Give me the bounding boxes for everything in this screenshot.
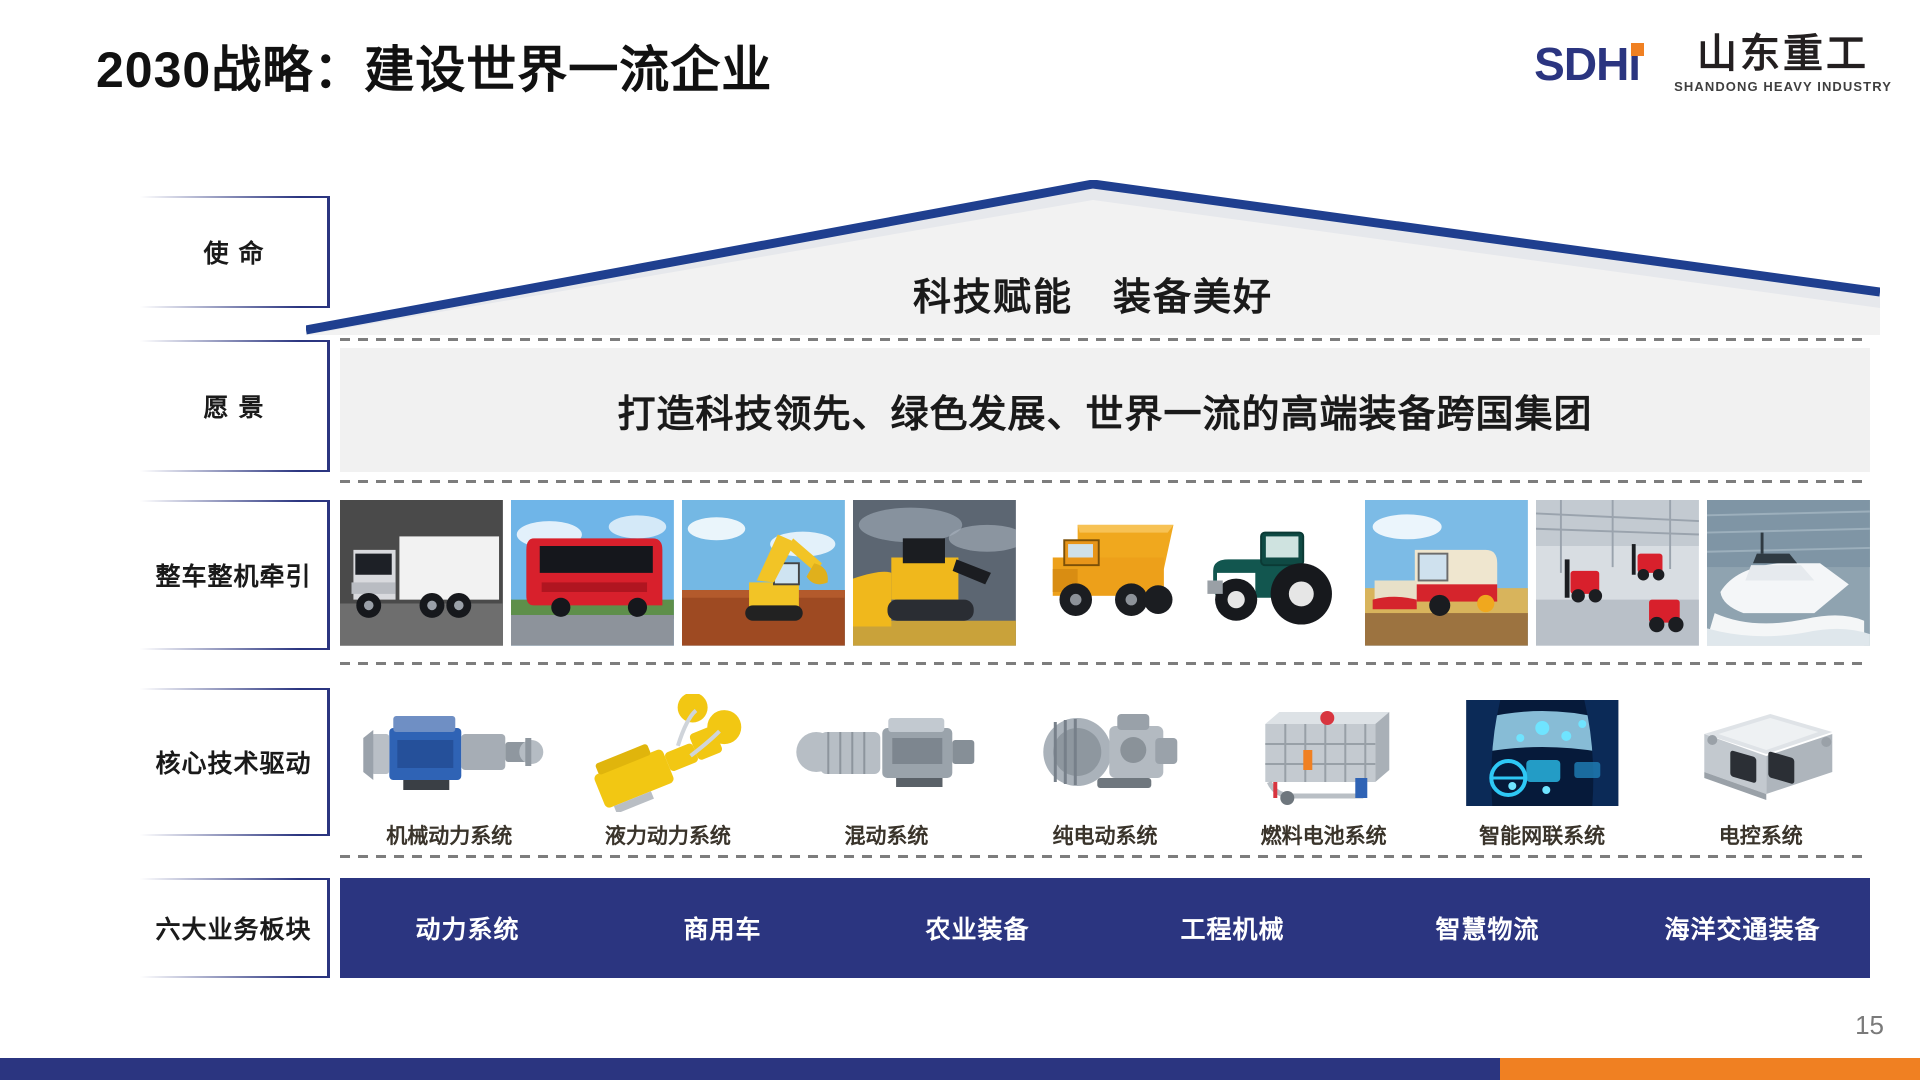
row-label-vision: 愿景: [140, 340, 330, 472]
business-segment-item: 商用车: [595, 910, 850, 946]
row-label-vehicles: 整车整机牵引: [140, 500, 330, 650]
vehicle-tile-heavy-truck: [340, 500, 503, 652]
footer-bar-orange: [1500, 1058, 1920, 1080]
vehicle-tile-combine-harvester: [1365, 500, 1528, 652]
tech-cell-battery-electric: 纯电动系统: [996, 672, 1215, 850]
hydraulic-powertrain-icon: [559, 694, 778, 812]
vehicle-tile-excavator: [682, 500, 845, 652]
electric-drive-art: [996, 694, 1215, 812]
tech-cell-hybrid: 混动系统: [777, 672, 996, 850]
logo-name-block: 山东重工 SHANDONG HEAVY INDUSTRY: [1674, 34, 1892, 94]
tech-label: 燃料电池系统: [1261, 820, 1387, 850]
hydraulic-powertrain-art: [559, 694, 778, 812]
business-segment-item: 农业装备: [850, 910, 1105, 946]
vehicle-tile-tractor: [1194, 500, 1357, 652]
tech-label: 纯电动系统: [1053, 820, 1158, 850]
vehicle-tile-coach-bus: [511, 500, 674, 652]
electric-drive-icon: [996, 694, 1215, 812]
logo-mark-sdhi: SDHi: [1534, 41, 1644, 87]
vision-band: 打造科技领先、绿色发展、世界一流的高端装备跨国集团: [340, 348, 1870, 472]
slide-header: 2030战略：建设世界一流企业 SDHi 山东重工 SHANDONG HEAVY…: [0, 0, 1920, 130]
tech-cell-mechanical-power: 机械动力系统: [340, 672, 559, 850]
yacht-icon: [1707, 500, 1870, 646]
divider-mission-vision: [340, 338, 1870, 341]
vehicle-image-strip: [340, 500, 1870, 652]
divider-technology-business: [340, 855, 1870, 858]
footer-bar-navy: [0, 1058, 1500, 1080]
excavator-icon: [682, 500, 845, 646]
combine-harvester-icon: [1365, 500, 1528, 646]
tech-label: 液力动力系统: [605, 820, 731, 850]
mission-text: 科技赋能 装备美好: [306, 180, 1880, 335]
brand-logo: SDHi 山东重工 SHANDONG HEAVY INDUSTRY: [1534, 34, 1892, 94]
divider-vehicles-technology: [340, 662, 1870, 665]
tech-label: 机械动力系统: [386, 820, 512, 850]
tech-cell-fuel-cell: 燃料电池系统: [1214, 672, 1433, 850]
tech-cell-hydraulic-power: 液力动力系统: [559, 672, 778, 850]
diesel-engine-art: [340, 694, 559, 812]
divider-vision-vehicles: [340, 480, 1870, 483]
ecu-controller-icon: [1651, 694, 1870, 812]
row-label-technology: 核心技术驱动: [140, 688, 330, 836]
core-technology-row: 机械动力系统 液力动力系统: [340, 672, 1870, 850]
tech-label: 混动系统: [844, 820, 928, 850]
smart-cockpit-art: [1433, 694, 1652, 812]
logo-orange-dot-icon: [1631, 43, 1644, 56]
ecu-controller-art: [1651, 694, 1870, 812]
business-segment-item: 智慧物流: [1360, 910, 1615, 946]
tractor-icon: [1194, 500, 1357, 646]
page-title: 2030战略：建设世界一流企业: [96, 30, 772, 102]
hybrid-powertrain-icon: [777, 694, 996, 812]
row-label-mission: 使命: [140, 196, 330, 308]
vehicle-tile-yacht: [1707, 500, 1870, 652]
page-number: 15: [1855, 1010, 1884, 1041]
tech-cell-electronic-control: 电控系统: [1651, 672, 1870, 850]
mining-dump-truck-icon: [1024, 500, 1187, 646]
vehicle-tile-forklift-warehouse: [1536, 500, 1699, 652]
forklift-warehouse-icon: [1536, 500, 1699, 646]
tech-cell-smart-connected: 智能网联系统: [1433, 672, 1652, 850]
vehicle-tile-mining-dump-truck: [1024, 500, 1187, 652]
footer-bar: [0, 1058, 1920, 1080]
logo-chinese-name: 山东重工: [1697, 34, 1869, 74]
smart-cockpit-icon: [1433, 694, 1652, 812]
tech-label: 电控系统: [1719, 820, 1803, 850]
fuel-cell-stack-art: [1214, 694, 1433, 812]
fuel-cell-stack-icon: [1214, 694, 1433, 812]
bulldozer-icon: [853, 500, 1016, 646]
logo-divider: [1658, 42, 1660, 86]
business-segment-item: 动力系统: [340, 910, 595, 946]
hybrid-powertrain-art: [777, 694, 996, 812]
logo-english-name: SHANDONG HEAVY INDUSTRY: [1674, 79, 1892, 94]
vehicle-tile-bulldozer: [853, 500, 1016, 652]
business-segment-bar: 动力系统 商用车 农业装备 工程机械 智慧物流 海洋交通装备: [340, 878, 1870, 978]
coach-bus-icon: [511, 500, 674, 646]
row-label-business: 六大业务板块: [140, 878, 330, 978]
diesel-engine-icon: [340, 694, 559, 812]
vision-text: 打造科技领先、绿色发展、世界一流的高端装备跨国集团: [617, 383, 1592, 438]
tech-label: 智能网联系统: [1479, 820, 1605, 850]
mission-roof: 科技赋能 装备美好: [306, 180, 1880, 335]
business-segment-item: 工程机械: [1105, 910, 1360, 946]
heavy-truck-icon: [340, 500, 503, 646]
business-segment-item: 海洋交通装备: [1615, 910, 1870, 946]
logo-mark-text: SDHi: [1534, 38, 1640, 90]
